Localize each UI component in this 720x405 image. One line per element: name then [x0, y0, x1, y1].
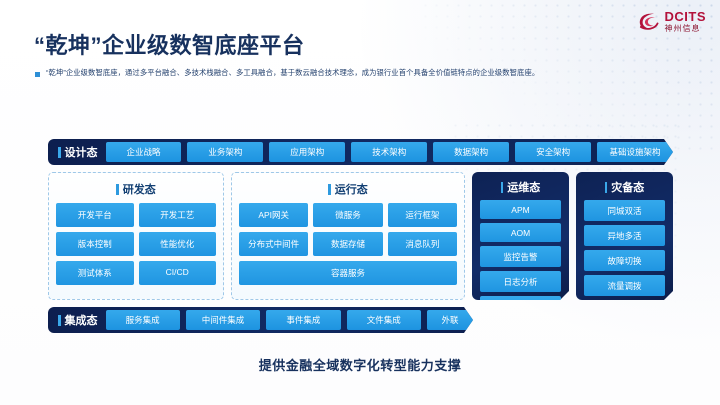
run-item-message-queue[interactable]: 消息队列 — [388, 232, 457, 256]
dev-item-dev-process[interactable]: 开发工艺 — [139, 203, 217, 227]
tick-marker-icon — [58, 147, 61, 158]
dev-item-version-control[interactable]: 版本控制 — [56, 232, 134, 256]
ops-state-title-group: 运维态 — [480, 179, 561, 195]
dev-item-performance-optimization[interactable]: 性能优化 — [139, 232, 217, 256]
ops-state-panel: 运维态 APM AOM 监控告警 日志分析 根因定位 — [472, 172, 569, 300]
integration-item-middleware-integration[interactable]: 中间件集成 — [186, 310, 260, 330]
ops-item-aom[interactable]: AOM — [480, 223, 561, 242]
dr-state-title: 灾备态 — [611, 179, 644, 195]
run-state-panel: 运行态 API网关 微服务 运行框架 分布式中间件 数据存储 消息队列 容器服务 — [231, 172, 465, 300]
slide-canvas: DCITS 神州信息 “乾坤”企业级数智底座平台 “乾坤”企业级数智底座，通过多… — [0, 0, 720, 405]
ops-item-monitoring-alert[interactable]: 监控告警 — [480, 246, 561, 267]
integration-item-event-integration[interactable]: 事件集成 — [266, 310, 340, 330]
integration-item-external-link[interactable]: 外联 — [427, 310, 473, 330]
integration-row: 集成态 服务集成 中间件集成 事件集成 文件集成 外联 — [48, 307, 673, 333]
ops-state-items: APM AOM 监控告警 日志分析 根因定位 — [480, 200, 561, 317]
footer-caption: 提供金融全域数字化转型能力支撑 — [0, 355, 720, 374]
diagram-middle-row: 研发态 开发平台 开发工艺 版本控制 性能优化 测试体系 CI/CD 运行态 — [48, 172, 673, 300]
dr-item-failover[interactable]: 故障切换 — [584, 250, 665, 271]
square-bullet-icon — [35, 72, 40, 77]
ops-item-log-analysis[interactable]: 日志分析 — [480, 271, 561, 292]
integration-state-label: 集成态 — [65, 312, 98, 328]
logo-text-cn: 神州信息 — [665, 25, 707, 33]
tick-marker-icon — [58, 315, 61, 326]
subtitle-text: “乾坤”企业级数智底座，通过多平台融合、多技术栈融合、多工具融合，基于数云融合技… — [46, 68, 539, 79]
tick-marker-icon — [116, 184, 119, 195]
run-item-runtime-framework[interactable]: 运行框架 — [388, 203, 457, 227]
dev-item-dev-platform[interactable]: 开发平台 — [56, 203, 134, 227]
design-item-data-architecture[interactable]: 数据架构 — [433, 142, 509, 162]
dev-state-title: 研发态 — [123, 181, 156, 197]
dev-state-panel: 研发态 开发平台 开发工艺 版本控制 性能优化 测试体系 CI/CD — [48, 172, 224, 300]
dr-state-items: 同城双活 异地多活 故障切换 流量调拨 容灾演练 — [584, 200, 665, 321]
dr-state-title-group: 灾备态 — [584, 179, 665, 195]
run-item-microservice[interactable]: 微服务 — [313, 203, 382, 227]
design-item-business-architecture[interactable]: 业务架构 — [187, 142, 263, 162]
integration-state-items: 服务集成 中间件集成 事件集成 文件集成 外联 — [106, 310, 474, 330]
page-title: “乾坤”企业级数智底座平台 — [34, 28, 305, 60]
dr-item-same-city-active-active[interactable]: 同城双活 — [584, 200, 665, 221]
dr-item-traffic-scheduling[interactable]: 流量调拨 — [584, 275, 665, 296]
run-item-distributed-middleware[interactable]: 分布式中间件 — [239, 232, 308, 256]
design-item-technical-architecture[interactable]: 技术架构 — [351, 142, 427, 162]
dev-state-title-group: 研发态 — [56, 181, 216, 197]
dev-item-cicd[interactable]: CI/CD — [139, 261, 217, 285]
ops-state-title: 运维态 — [507, 179, 540, 195]
integration-item-file-integration[interactable]: 文件集成 — [347, 310, 421, 330]
run-item-container-service[interactable]: 容器服务 — [239, 261, 457, 285]
dr-state-panel: 灾备态 同城双活 异地多活 故障切换 流量调拨 容灾演练 — [576, 172, 673, 300]
design-state-bar: 设计态 企业战略 业务架构 应用架构 技术架构 数据架构 安全架构 基础设施架构 — [48, 139, 673, 165]
architecture-diagram: 设计态 企业战略 业务架构 应用架构 技术架构 数据架构 安全架构 基础设施架构… — [48, 139, 673, 339]
integration-state-label-group: 集成态 — [58, 312, 98, 328]
subtitle-row: “乾坤”企业级数智底座，通过多平台融合、多技术栈融合、多工具融合，基于数云融合技… — [35, 68, 680, 79]
integration-item-service-integration[interactable]: 服务集成 — [106, 310, 180, 330]
design-item-security-architecture[interactable]: 安全架构 — [515, 142, 591, 162]
design-state-label-group: 设计态 — [58, 144, 98, 160]
brand-logo: DCITS 神州信息 — [636, 9, 707, 33]
dev-state-items: 开发平台 开发工艺 版本控制 性能优化 测试体系 CI/CD — [56, 203, 216, 285]
design-item-application-architecture[interactable]: 应用架构 — [269, 142, 345, 162]
tick-marker-icon — [605, 182, 608, 193]
ops-item-apm[interactable]: APM — [480, 200, 561, 219]
design-item-enterprise-strategy[interactable]: 企业战略 — [106, 142, 182, 162]
tick-marker-icon — [501, 182, 504, 193]
integration-state-bar: 集成态 服务集成 中间件集成 事件集成 文件集成 外联 — [48, 307, 473, 333]
run-state-items: API网关 微服务 运行框架 分布式中间件 数据存储 消息队列 容器服务 — [239, 203, 457, 285]
swirl-logo-icon — [636, 9, 660, 33]
tick-marker-icon — [328, 184, 331, 195]
run-state-title-group: 运行态 — [239, 181, 457, 197]
dr-item-remote-multi-active[interactable]: 异地多活 — [584, 225, 665, 246]
run-item-data-storage[interactable]: 数据存储 — [313, 232, 382, 256]
logo-text-en: DCITS — [665, 10, 707, 23]
design-item-infrastructure-architecture[interactable]: 基础设施架构 — [597, 142, 673, 162]
run-state-title: 运行态 — [335, 181, 368, 197]
dev-item-test-system[interactable]: 测试体系 — [56, 261, 134, 285]
design-state-items: 企业战略 业务架构 应用架构 技术架构 数据架构 安全架构 基础设施架构 — [106, 142, 674, 162]
design-state-label: 设计态 — [65, 144, 98, 160]
run-item-api-gateway[interactable]: API网关 — [239, 203, 308, 227]
